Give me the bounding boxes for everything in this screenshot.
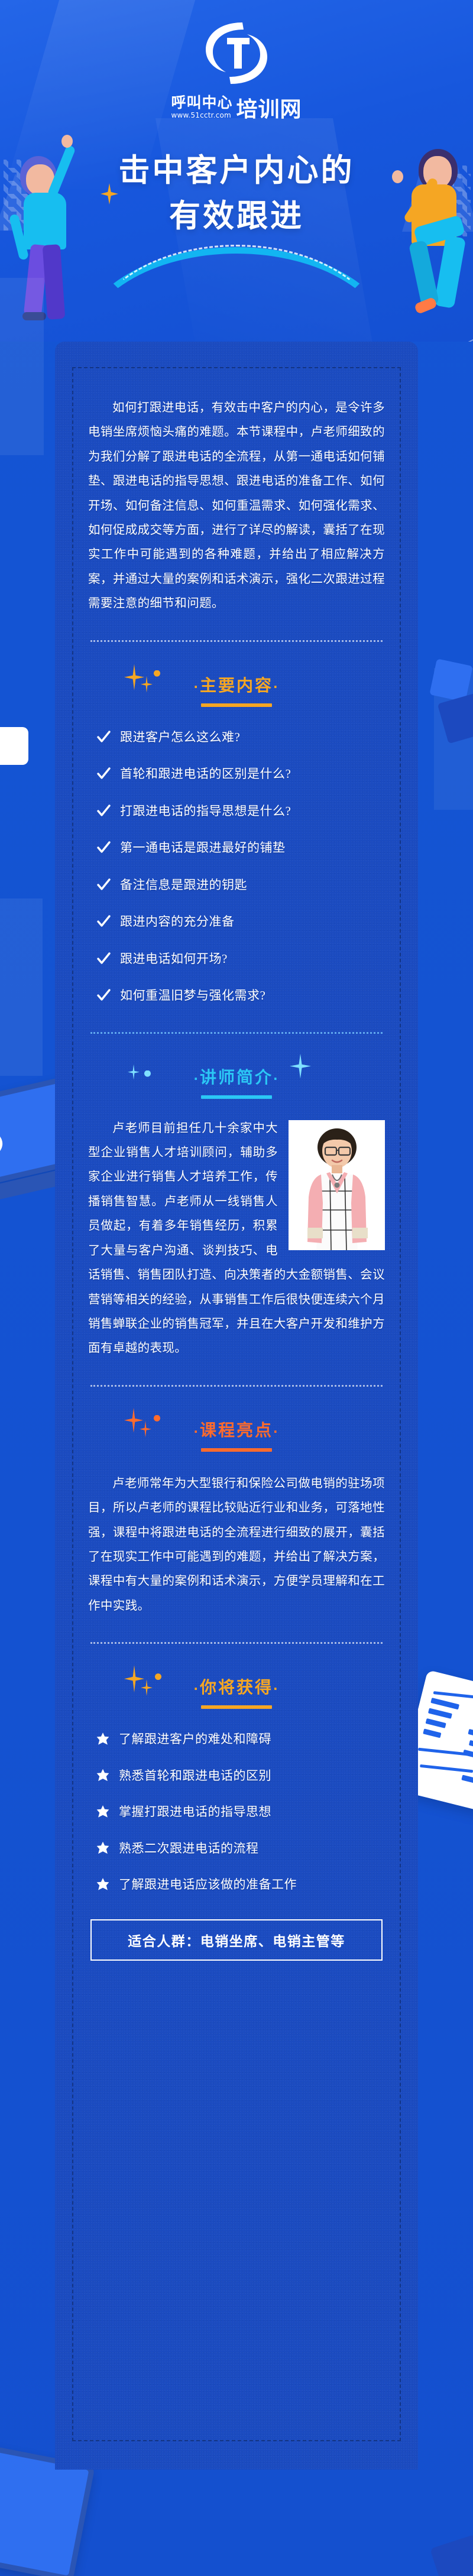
brand-name-cn-large: 培训网: [237, 100, 302, 121]
list-item-label: 掌握打跟进电话的指导思想: [119, 1803, 271, 1822]
heading-bullet-left: ·: [193, 1682, 200, 1696]
intro-paragraph: 如何打跟进电话，有效击中客户的内心，是令许多电销坐席烦恼头痛的难题。本节课程中，…: [88, 396, 385, 617]
landing-page: 呼叫中心 www.51cctr.com 培训网: [0, 0, 473, 2576]
section-title: ·主要内容·: [193, 673, 279, 696]
list-item-label: 熟悉二次跟进电话的流程: [119, 1839, 259, 1858]
main-content-list: 跟进客户怎么这么难? 首轮和跟进电话的区别是什么? 打跟进电话的指导思想是什么?: [88, 728, 385, 1008]
heading-bullet-right: ·: [273, 1072, 280, 1086]
list-item: 备注信息是跟进的钥匙: [96, 876, 385, 898]
heading-bullet-left: ·: [193, 1425, 200, 1439]
section-underline: [201, 1448, 272, 1452]
section-heading-highlights: ·课程亮点·: [88, 1417, 385, 1452]
list-item-label: 熟悉首轮和跟进电话的区别: [119, 1767, 271, 1786]
list-item: 跟进客户怎么这么难?: [96, 728, 385, 750]
list-item: 跟进内容的充分准备: [96, 913, 385, 935]
t-circle-logo-icon: [199, 18, 274, 92]
list-item: 掌握打跟进电话的指导思想: [96, 1803, 385, 1822]
check-icon: [96, 730, 111, 750]
list-item: 熟悉二次跟进电话的流程: [96, 1839, 385, 1858]
sparkle-icon-group: [124, 1408, 171, 1441]
blue-panel-shape-3: [434, 668, 473, 810]
heading-bullet-left: ·: [193, 680, 200, 694]
section-divider-2: [90, 1032, 383, 1034]
audience-badge: 适合人群：电销坐席、电销主管等: [90, 1919, 383, 1961]
hero-banner: 呼叫中心 www.51cctr.com 培训网: [0, 0, 473, 342]
section-heading-main-content: ·主要内容·: [88, 673, 385, 707]
section-underline: [201, 1705, 272, 1709]
list-item-label: 了解跟进客户的难处和障碍: [119, 1730, 271, 1749]
section-divider-1: [90, 640, 383, 642]
list-item-label: 跟进电话如何开场?: [120, 950, 228, 969]
list-item-label: 备注信息是跟进的钥匙: [120, 876, 247, 895]
section-title: ·课程亮点·: [193, 1417, 279, 1441]
list-item: 了解跟进电话应该做的准备工作: [96, 1876, 385, 1894]
check-icon: [96, 804, 111, 824]
heading-bullet-right: ·: [273, 1682, 280, 1696]
list-item: 跟进电话如何开场?: [96, 950, 385, 972]
heading-text: 讲师简介: [200, 1068, 273, 1087]
check-icon: [96, 878, 111, 898]
section-underline: [201, 703, 272, 707]
brand-wordmark: 呼叫中心 www.51cctr.com 培训网: [0, 95, 473, 121]
list-item: 首轮和跟进电话的区别是什么?: [96, 765, 385, 787]
heading-text: 你将获得: [200, 1678, 273, 1697]
brand-logo[interactable]: 呼叫中心 www.51cctr.com 培训网: [0, 18, 473, 121]
instructor-portrait: [289, 1120, 385, 1250]
list-item: 熟悉首轮和跟进电话的区别: [96, 1767, 385, 1786]
hero-title-line-1: 击中客户内心的: [0, 148, 473, 193]
heading-bullet-right: ·: [273, 1425, 280, 1439]
sparkle-icon-group: [124, 1665, 171, 1698]
tablet-home-bar: [0, 1176, 44, 1198]
list-item-label: 如何重温旧梦与强化需求?: [120, 987, 265, 1005]
heading-text: 主要内容: [200, 676, 273, 695]
list-item-label: 打跟进电话的指导思想是什么?: [120, 802, 291, 821]
tablet-camera-dot: [0, 1130, 5, 1158]
heading-text: 课程亮点: [200, 1420, 273, 1440]
brand-name-cn: 呼叫中心: [171, 95, 232, 111]
list-item: 如何重温旧梦与强化需求?: [96, 987, 385, 1008]
sparkle-icon-group: [124, 663, 171, 696]
list-item-label: 首轮和跟进电话的区别是什么?: [120, 765, 291, 784]
check-icon: [96, 914, 111, 935]
section-heading-gains: ·你将获得·: [88, 1675, 385, 1709]
instructor-bio-block: 卢老师目前担任几十余家中大型企业销售人才培训顾问，辅助多家企业进行销售人才培养工…: [88, 1117, 385, 1361]
check-icon: [96, 767, 111, 787]
section-underline: [201, 1095, 272, 1099]
section-title: ·你将获得·: [193, 1675, 279, 1698]
brand-url: www.51cctr.com: [171, 111, 232, 121]
content-card: 如何打跟进电话，有效击中客户的内心，是令许多电销坐席烦恼头痛的难题。本节课程中，…: [55, 342, 418, 2470]
list-item-label: 了解跟进电话应该做的准备工作: [119, 1876, 297, 1894]
section-title: ·讲师简介·: [193, 1065, 279, 1088]
star-icon: [96, 1805, 109, 1818]
sparkle-icon: [290, 1054, 311, 1079]
section-divider-3: [90, 1385, 383, 1387]
blue-square-shape-3: [430, 2534, 473, 2576]
check-icon: [96, 988, 111, 1008]
heading-bullet-right: ·: [273, 680, 280, 694]
star-icon: [96, 1878, 109, 1891]
blue-panel-shape-2: [0, 898, 43, 1076]
gains-list: 了解跟进客户的难处和障碍 熟悉首轮和跟进电话的区别 掌握打跟进电话的指导思想 熟…: [88, 1730, 385, 1894]
star-icon: [96, 1769, 109, 1782]
blue-square-shape-2: [438, 693, 473, 744]
sparkle-icon-group: [124, 1055, 171, 1088]
star-icon: [96, 1733, 109, 1746]
list-item-label: 跟进客户怎么这么难?: [120, 728, 240, 747]
list-item: 打跟进电话的指导思想是什么?: [96, 802, 385, 824]
list-item: 了解跟进客户的难处和障碍: [96, 1730, 385, 1749]
section-heading-instructor: ·讲师简介·: [88, 1065, 385, 1099]
heading-bullet-left: ·: [193, 1072, 200, 1086]
check-icon: [96, 841, 111, 861]
list-item-label: 跟进内容的充分准备: [120, 913, 235, 932]
section-divider-4: [90, 1642, 383, 1644]
list-item: 第一通电话是跟进最好的铺垫: [96, 839, 385, 861]
check-icon: [96, 952, 111, 972]
highlights-paragraph: 卢老师常年为大型银行和保险公司做电销的驻场项目，所以卢老师的课程比较贴近行业和业…: [88, 1472, 385, 1618]
blue-square-shape: [429, 658, 473, 702]
list-item-label: 第一通电话是跟进最好的铺垫: [120, 839, 286, 858]
star-icon: [96, 1842, 109, 1855]
white-square-shape: [0, 727, 28, 765]
